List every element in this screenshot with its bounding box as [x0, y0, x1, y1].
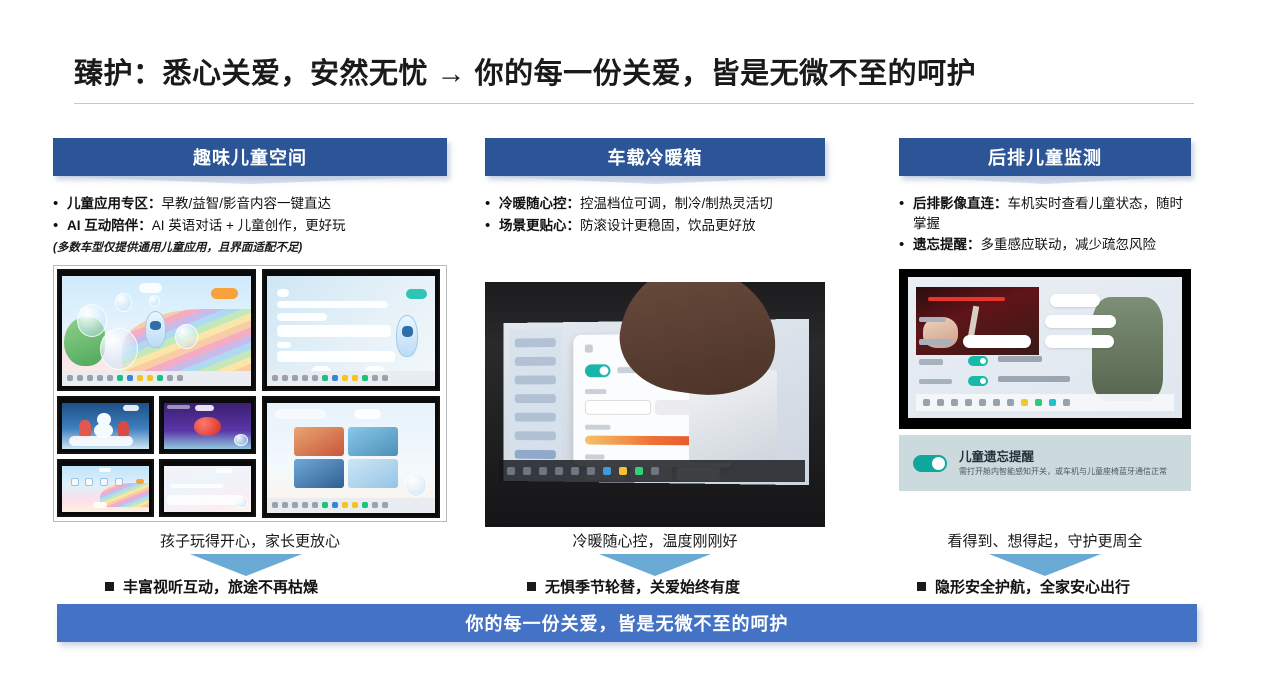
screenshot-rear-camera: [899, 269, 1191, 429]
bullet-dot-icon: •: [485, 216, 499, 236]
screenshot-ai-chat: [262, 269, 440, 391]
column-header-1-label: 趣味儿童空间: [193, 144, 307, 170]
rear-taskbar: [916, 394, 1174, 411]
photo-collage-1: [53, 265, 447, 522]
column-cooler-box: 车载冷暖箱 • 冷暖随心控：控温档位可调，制冷/制热灵活切 • 场景更贴心：防滚…: [485, 138, 825, 527]
bullet-rest: 多重感应联动，减少疏忽风险: [981, 237, 1157, 252]
bullet-text: 冷暖随心控：控温档位可调，制冷/制热灵活切: [499, 194, 825, 214]
bullet-lead: 遗忘提醒：: [913, 237, 981, 252]
screenshot-kids-home: [57, 269, 256, 391]
title-divider: [74, 103, 1194, 104]
column-note-1: (多数车型仅提供通用儿童应用，且界面适配不足): [53, 239, 447, 255]
photo-rear-monitor: 儿童遗忘提醒 需打开舱内智能感知开关，或车机与儿童座椅蓝牙通信正常: [899, 269, 1191, 491]
child-forgotten-reminder-card: 儿童遗忘提醒 需打开舱内智能感知开关，或车机与儿童座椅蓝牙通信正常: [899, 435, 1191, 491]
collage-frame: [53, 265, 447, 522]
bullet-text: 场景更贴心：防滚设计更稳固，饮品更好放: [499, 216, 825, 236]
slide-root: 臻护：悉心关爱，安然无忧 → 你的每一份关爱，皆是无微不至的呵护 趣味儿童空间 …: [0, 0, 1271, 686]
bullet-rest: 控温档位可调，制冷/制热灵活切: [580, 196, 773, 211]
arrow-down-icon: [599, 554, 711, 576]
tagline-2: 无惧季节轮替，关爱始终有度: [527, 576, 740, 597]
bottom-banner: 你的每一份关爱，皆是无微不至的呵护: [57, 604, 1197, 642]
screenshot-kids-apps: [57, 459, 154, 517]
bullet-text: AI 互动陪伴：AI 英语对话 + 儿童创作，更好玩: [67, 216, 447, 236]
bullet-item: • 后排影像直连：车机实时查看儿童状态，随时掌握: [899, 194, 1191, 233]
tagline-3-label: 隐形安全护航，全家安心出行: [935, 576, 1130, 597]
reminder-subtitle: 需打开舱内智能感知开关，或车机与儿童座椅蓝牙通信正常: [959, 467, 1167, 478]
bullet-dot-icon: •: [899, 235, 913, 255]
bullet-list-2: • 冷暖随心控：控温档位可调，制冷/制热灵活切 • 场景更贴心：防滚设计更稳固，…: [485, 194, 825, 237]
bullet-lead: AI 互动陪伴：: [67, 218, 152, 233]
bullet-lead: 场景更贴心：: [499, 218, 580, 233]
photo-cooler: [485, 282, 825, 527]
caption-2: 冷暖随心控，温度刚刚好: [485, 530, 825, 551]
reminder-toggle[interactable]: [913, 455, 947, 472]
bullet-list-3: • 后排影像直连：车机实时查看儿童状态，随时掌握 • 遗忘提醒：多重感应联动，减…: [899, 194, 1191, 255]
bullet-list-1: • 儿童应用专区：早教/益智/影音内容一键直达 • AI 互动陪伴：AI 英语对…: [53, 194, 447, 255]
column-rear-monitor: 后排儿童监测 • 后排影像直连：车机实时查看儿童状态，随时掌握 • 遗忘提醒：多…: [899, 138, 1191, 491]
bullet-rest: 早教/益智/影音内容一键直达: [162, 196, 332, 211]
bullet-rest: 防滚设计更稳固，饮品更好放: [580, 218, 756, 233]
column-kids-space: 趣味儿童空间 • 儿童应用专区：早教/益智/影音内容一键直达 • AI 互动陪伴…: [53, 138, 447, 522]
screenshot-purple-video: [159, 396, 256, 454]
reminder-text-block: 儿童遗忘提醒 需打开舱内智能感知开关，或车机与儿童座椅蓝牙通信正常: [959, 449, 1167, 478]
tagline-3: 隐形安全护航，全家安心出行: [917, 576, 1130, 597]
arrow-down-icon: [190, 554, 302, 576]
column-header-2-label: 车载冷暖箱: [608, 144, 703, 170]
arrow-down-icon: [989, 554, 1101, 576]
bullet-rest: AI 英语对话 + 儿童创作，更好玩: [152, 218, 346, 233]
page-title: 臻护：悉心关爱，安然无忧 → 你的每一份关爱，皆是无微不至的呵护: [74, 50, 976, 92]
bullet-item: • 冷暖随心控：控温档位可调，制冷/制热灵活切: [485, 194, 825, 214]
bullet-text: 遗忘提醒：多重感应联动，减少疏忽风险: [913, 235, 1191, 255]
tagline-2-label: 无惧季节轮替，关爱始终有度: [545, 576, 740, 597]
bullet-item: • 场景更贴心：防滚设计更稳固，饮品更好放: [485, 216, 825, 236]
screenshot-snow-scene: [57, 396, 154, 454]
screenshot-kids-gallery: [262, 396, 440, 518]
bullet-item: • 遗忘提醒：多重感应联动，减少疏忽风险: [899, 235, 1191, 255]
bullet-dot-icon: •: [899, 194, 913, 214]
column-header-1: 趣味儿童空间: [53, 138, 447, 176]
caption-3: 看得到、想得起，守护更周全: [899, 530, 1191, 551]
bullet-item: • AI 互动陪伴：AI 英语对话 + 儿童创作，更好玩: [53, 216, 447, 236]
bullet-item: • 儿童应用专区：早教/益智/影音内容一键直达: [53, 194, 447, 214]
reminder-title: 儿童遗忘提醒: [959, 449, 1167, 465]
column-header-3: 后排儿童监测: [899, 138, 1191, 176]
square-bullet-icon: [527, 582, 536, 591]
column-header-3-label: 后排儿童监测: [988, 144, 1102, 170]
bottom-banner-label: 你的每一份关爱，皆是无微不至的呵护: [466, 610, 789, 636]
bullet-dot-icon: •: [53, 194, 67, 214]
column-header-2: 车载冷暖箱: [485, 138, 825, 176]
bullet-lead: 后排影像直连：: [913, 196, 1008, 211]
square-bullet-icon: [917, 582, 926, 591]
caption-1: 孩子玩得开心，家长更放心: [53, 530, 447, 551]
car-taskbar: [499, 460, 805, 482]
screenshot-kids-settings: [159, 459, 256, 517]
screenshot-climate-control: [485, 282, 825, 527]
bullet-dot-icon: •: [53, 216, 67, 236]
bullet-text: 后排影像直连：车机实时查看儿童状态，随时掌握: [913, 194, 1191, 233]
tagline-1: 丰富视听互动，旅途不再枯燥: [105, 576, 318, 597]
bullet-text: 儿童应用专区：早教/益智/影音内容一键直达: [67, 194, 447, 214]
bullet-lead: 冷暖随心控：: [499, 196, 580, 211]
bullet-dot-icon: •: [485, 194, 499, 214]
bullet-lead: 儿童应用专区：: [67, 196, 162, 211]
square-bullet-icon: [105, 582, 114, 591]
tagline-1-label: 丰富视听互动，旅途不再枯燥: [123, 576, 318, 597]
cooler-power-toggle: [585, 364, 610, 377]
